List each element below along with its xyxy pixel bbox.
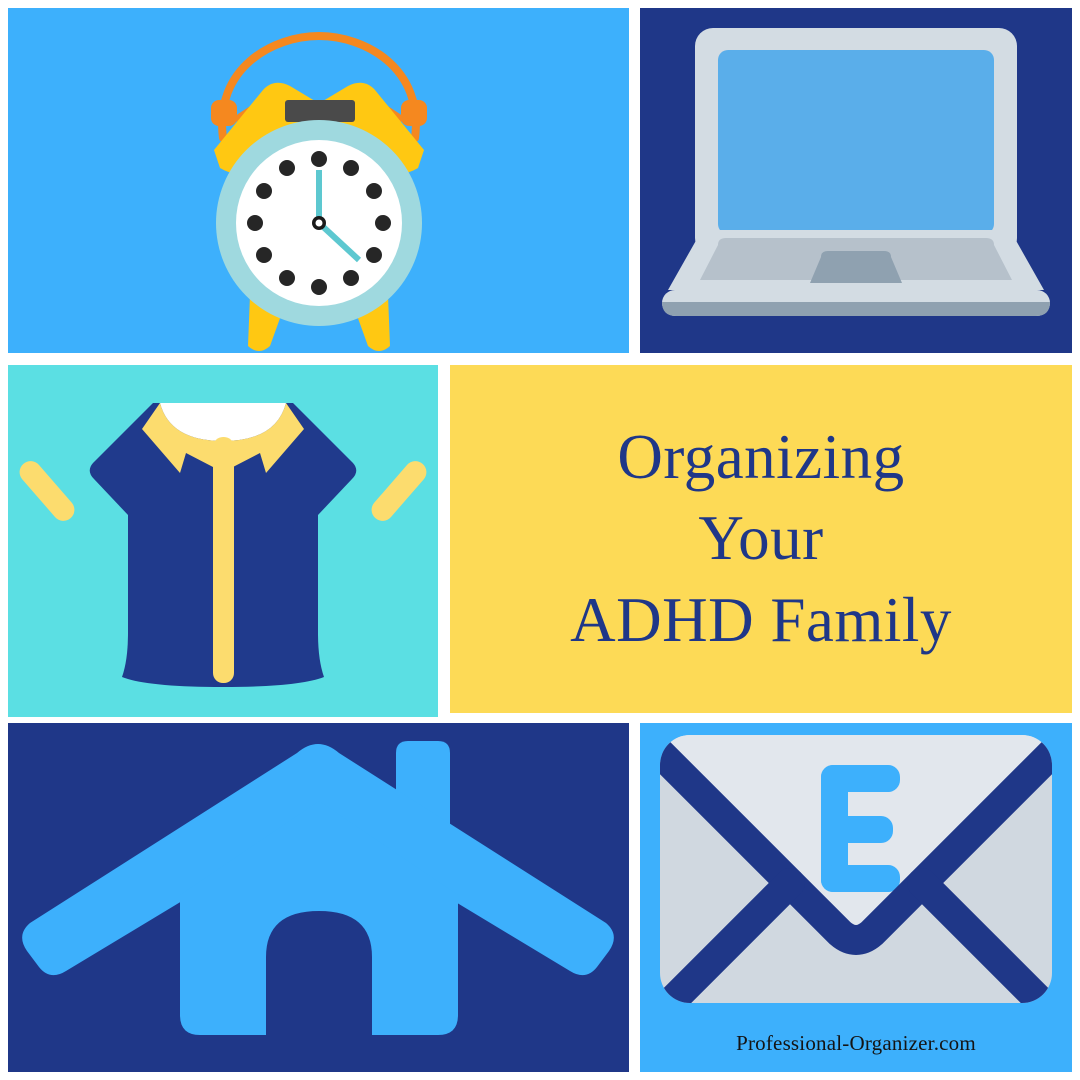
title-line-1: Organizing [617,418,904,497]
tile-envelope: Professional-Organizer.com [640,723,1072,1072]
envelope-icon [640,723,1072,1072]
house-icon [8,723,629,1072]
title-line-3: ADHD Family [570,581,952,660]
alarm-clock-icon [8,8,629,353]
tile-alarm-clock [8,8,629,353]
shirt-icon [8,365,438,717]
tile-title-card: Organizing Your ADHD Family [450,365,1072,713]
poster-canvas: Organizing Your ADHD Family [0,0,1080,1080]
title-line-2: Your [698,499,823,578]
tile-shirt [8,365,438,717]
laptop-icon [640,8,1072,353]
tile-laptop [640,8,1072,353]
envelope-letter [821,765,900,892]
page-title: Organizing Your ADHD Family [450,365,1072,713]
tile-house [8,723,629,1072]
watermark-text: Professional-Organizer.com [640,1031,1072,1056]
